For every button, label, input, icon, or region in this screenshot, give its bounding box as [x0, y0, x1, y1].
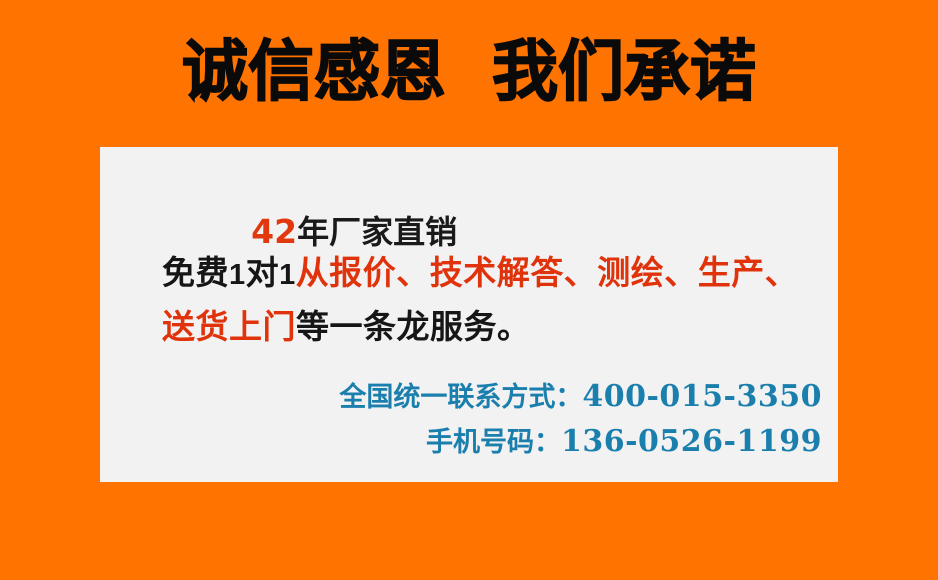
service-seg-tail: 等一条龙服务。 — [296, 307, 531, 346]
page-title: 诚信感恩 我们承诺 — [0, 36, 938, 108]
service-seg-one-a: 1 — [229, 259, 246, 291]
service-seg-red-first: 从报价、技术解答、测绘、生 — [296, 253, 732, 292]
service-description: 免费1对1从报价、技术解答、测绘、生产、送货上门等一条龙服务。 — [162, 247, 822, 353]
contact-block: 全国统一联系方式：400-015-3350 手机号码：136-0526-1199 — [339, 377, 822, 467]
contact-line-hotline: 全国统一联系方式：400-015-3350 — [339, 377, 822, 422]
service-seg-dui: 对 — [246, 253, 280, 292]
promo-banner: 诚信感恩 我们承诺 42年厂家直销 免费1对1从报价、技术解答、测绘、生产、送货… — [0, 0, 938, 580]
years-number: 42 — [251, 212, 297, 251]
mobile-label: 手机号码： — [426, 427, 561, 458]
service-seg-free: 免费 — [162, 253, 229, 292]
contact-line-mobile: 手机号码：136-0526-1199 — [339, 422, 822, 467]
hotline-number[interactable]: 400-015-3350 — [582, 379, 822, 414]
service-seg-one-b: 1 — [279, 259, 296, 291]
mobile-number[interactable]: 136-0526-1199 — [561, 424, 822, 459]
info-panel: 42年厂家直销 免费1对1从报价、技术解答、测绘、生产、送货上门等一条龙服务。 … — [100, 147, 838, 482]
years-label: 年厂家直销 — [297, 213, 457, 251]
hotline-label: 全国统一联系方式： — [339, 382, 582, 413]
